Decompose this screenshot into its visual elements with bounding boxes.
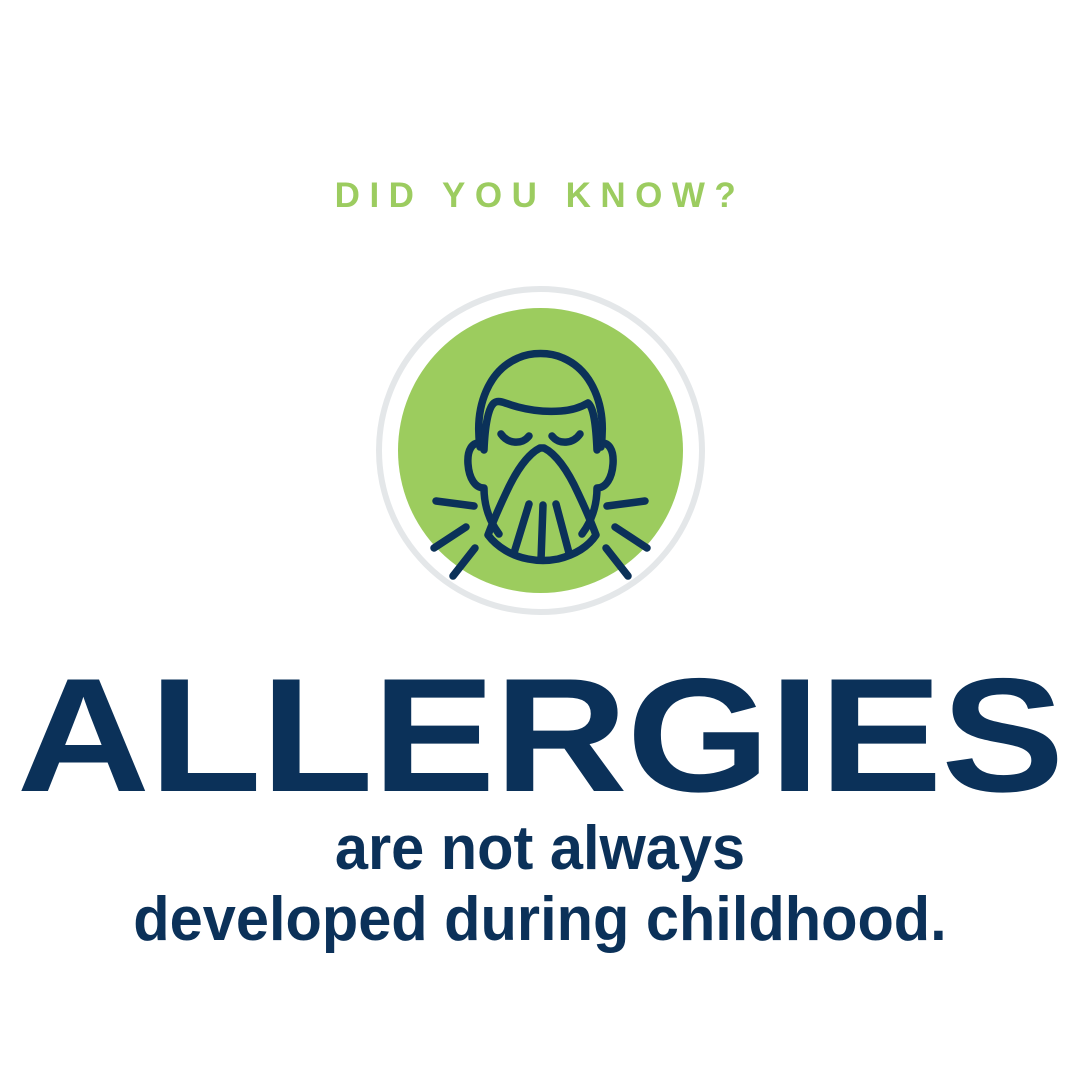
- subhead-line-2: developed during childhood.: [22, 887, 1059, 952]
- eyebrow-text: DID YOU KNOW?: [0, 178, 1080, 213]
- icon-medallion: [376, 286, 705, 615]
- subhead-line-1: are not always: [22, 816, 1059, 881]
- infographic-card: DID YOU KNOW?: [0, 0, 1080, 1080]
- page-title: ALLERGIES: [0, 655, 1080, 817]
- sneezing-person-icon: [398, 308, 683, 593]
- subhead-block: are not always developed during childhoo…: [22, 816, 1059, 952]
